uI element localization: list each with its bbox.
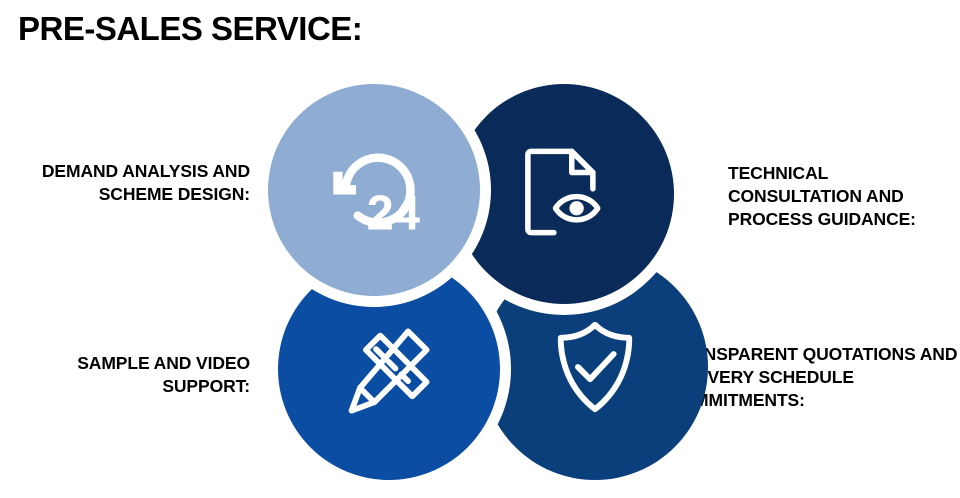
label-demand-analysis: DEMAND ANALYSIS AND SCHEME DESIGN:	[10, 160, 250, 206]
page-title: PRE-SALES SERVICE:	[18, 10, 362, 48]
shield-check-icon	[543, 315, 647, 419]
circle-technical-consultation[interactable]	[454, 84, 674, 304]
label-transparent-quotations: TRANSPARENT QUOTATIONS AND DELIVERY SCHE…	[668, 343, 960, 412]
document-eye-icon	[510, 140, 614, 244]
circle-cluster: 24	[268, 84, 676, 480]
svg-text:24: 24	[367, 186, 420, 240]
circle-demand-analysis[interactable]: 24	[268, 84, 480, 296]
clock-24-arrow-icon: 24	[326, 140, 430, 244]
label-technical-consultation: TECHNICAL CONSULTATION AND PROCESS GUIDA…	[728, 162, 954, 231]
pen-ruler-icon	[333, 317, 441, 425]
label-sample-video-support: SAMPLE AND VIDEO SUPPORT:	[10, 352, 250, 398]
